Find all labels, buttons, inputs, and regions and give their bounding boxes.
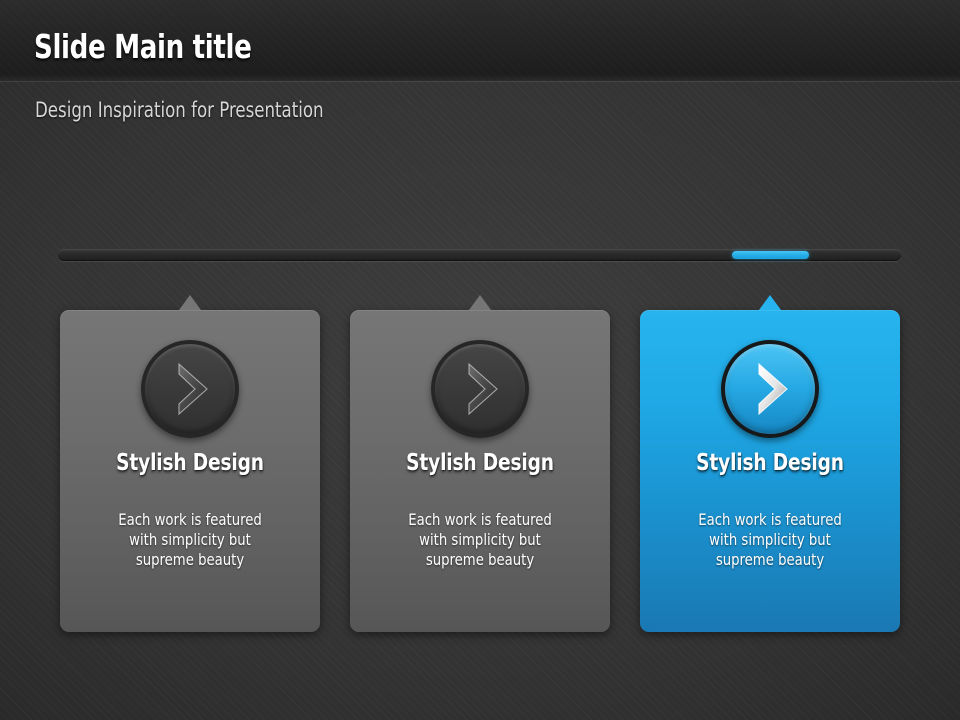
card-title-1: Stylish Design	[73, 450, 307, 476]
page-title: Slide Main title	[34, 27, 251, 66]
page-subtitle: Design Inspiration for Presentation	[35, 98, 324, 122]
card-title-3: Stylish Design	[653, 450, 887, 476]
chevron-right-icon-3[interactable]	[721, 340, 819, 438]
card-body-line: Each work is featured	[360, 510, 599, 530]
card-body-line: Each work is featured	[70, 510, 309, 530]
feature-card-3[interactable]: Stylish Design Each work is featured wit…	[640, 310, 900, 632]
feature-card-2[interactable]: Stylish Design Each work is featured wit…	[350, 310, 610, 632]
card-body-line: with simplicity but	[70, 530, 309, 550]
progress-bar-track[interactable]	[58, 249, 901, 261]
card-body-line: supreme beauty	[650, 550, 889, 570]
chevron-right-icon-1[interactable]	[141, 340, 239, 438]
card-body-line: supreme beauty	[70, 550, 309, 570]
card-body-2: Each work is featured with simplicity bu…	[360, 510, 599, 570]
chevron-right-icon-2[interactable]	[431, 340, 529, 438]
feature-card-1[interactable]: Stylish Design Each work is featured wit…	[60, 310, 320, 632]
card-body-line: with simplicity but	[360, 530, 599, 550]
card-title-2: Stylish Design	[363, 450, 597, 476]
card-body-line: Each work is featured	[650, 510, 889, 530]
progress-bar-fill[interactable]	[732, 251, 809, 259]
card-body-line: supreme beauty	[360, 550, 599, 570]
card-body-line: with simplicity but	[650, 530, 889, 550]
feature-card-row: Stylish Design Each work is featured wit…	[60, 310, 900, 632]
card-body-3: Each work is featured with simplicity bu…	[650, 510, 889, 570]
card-pointer-triangle-1	[179, 295, 201, 310]
card-body-1: Each work is featured with simplicity bu…	[70, 510, 309, 570]
presentation-slide: Slide Main title Design Inspiration for …	[0, 0, 960, 720]
card-pointer-triangle-3	[759, 295, 781, 310]
card-pointer-triangle-2	[469, 295, 491, 310]
